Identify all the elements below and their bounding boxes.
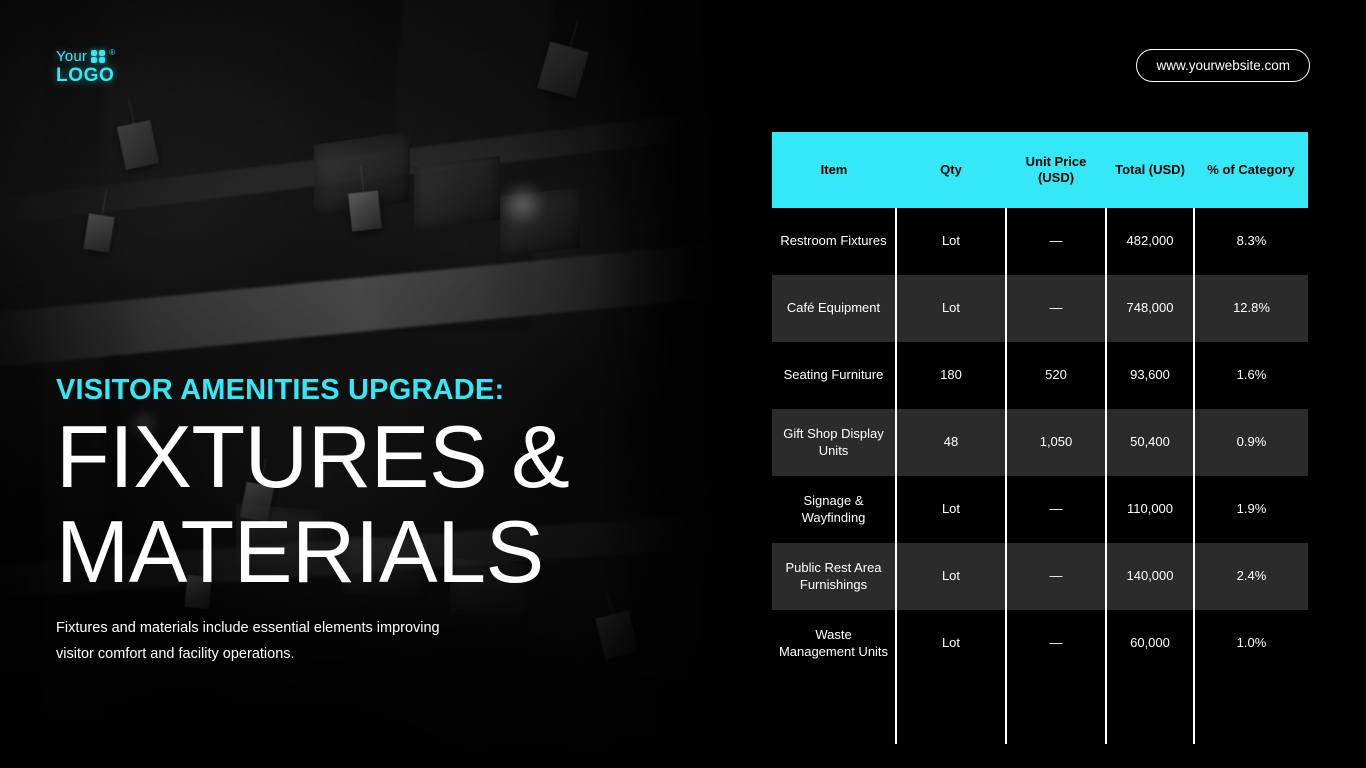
divider-tail-cell — [896, 677, 1006, 744]
cell-item: Café Equipment — [772, 275, 896, 342]
cell-total: 140,000 — [1106, 543, 1194, 610]
cell-unit-price: 1,050 — [1006, 409, 1106, 476]
divider-tail-cell — [1106, 677, 1194, 744]
divider-tail-cell — [1006, 677, 1106, 744]
cell-unit-price: — — [1006, 476, 1106, 543]
cell-percent: 0.9% — [1194, 409, 1308, 476]
cell-percent: 1.9% — [1194, 476, 1308, 543]
table-row: Café EquipmentLot—748,00012.8% — [772, 275, 1308, 342]
column-header-unit-price: Unit Price (USD) — [1006, 132, 1106, 208]
table-row: Waste Management UnitsLot—60,0001.0% — [772, 610, 1308, 677]
cell-qty: Lot — [896, 275, 1006, 342]
table-divider-tail — [772, 677, 1308, 744]
cell-total: 93,600 — [1106, 342, 1194, 409]
cell-qty: Lot — [896, 208, 1006, 275]
presentation-slide: Your ® LOGO www.yourwebsite.com VISITOR … — [0, 0, 1366, 768]
cell-percent: 8.3% — [1194, 208, 1308, 275]
logo-top-row: Your ® — [56, 49, 115, 64]
divider-tail-cell — [1194, 677, 1308, 744]
slide-title-line-1: FIXTURES & — [56, 415, 656, 499]
cell-unit-price: — — [1006, 208, 1106, 275]
cell-qty: Lot — [896, 476, 1006, 543]
divider-tail-cell — [772, 677, 896, 744]
cell-percent: 2.4% — [1194, 543, 1308, 610]
cell-qty: 48 — [896, 409, 1006, 476]
cell-total: 50,400 — [1106, 409, 1194, 476]
cell-percent: 1.0% — [1194, 610, 1308, 677]
cell-unit-price: — — [1006, 275, 1106, 342]
cost-breakdown-table-wrapper: Item Qty Unit Price (USD) Total (USD) % … — [772, 132, 1308, 744]
cell-item: Public Rest Area Furnishings — [772, 543, 896, 610]
cell-item: Gift Shop Display Units — [772, 409, 896, 476]
table-row: Seating Furniture18052093,6001.6% — [772, 342, 1308, 409]
cell-total: 748,000 — [1106, 275, 1194, 342]
cell-item: Seating Furniture — [772, 342, 896, 409]
column-header-item: Item — [772, 132, 896, 208]
slide-title-line-2: MATERIALS — [56, 510, 656, 594]
brand-logo[interactable]: Your ® LOGO — [56, 49, 115, 85]
table-row: Public Rest Area FurnishingsLot—140,0002… — [772, 543, 1308, 610]
cell-item: Signage & Wayfinding — [772, 476, 896, 543]
cell-item: Waste Management Units — [772, 610, 896, 677]
cell-unit-price: — — [1006, 543, 1106, 610]
cell-percent: 1.6% — [1194, 342, 1308, 409]
table-header-row: Item Qty Unit Price (USD) Total (USD) % … — [772, 132, 1308, 208]
cell-total: 482,000 — [1106, 208, 1194, 275]
cell-total: 60,000 — [1106, 610, 1194, 677]
slide-copy-block: VISITOR AMENITIES UPGRADE: FIXTURES & MA… — [56, 375, 656, 667]
table-row: Gift Shop Display Units481,05050,4000.9% — [772, 409, 1308, 476]
cell-item: Restroom Fixtures — [772, 208, 896, 275]
cell-unit-price: — — [1006, 610, 1106, 677]
registered-trademark-icon: ® — [109, 49, 115, 57]
table-row: Restroom FixturesLot—482,0008.3% — [772, 208, 1308, 275]
cell-unit-price: 520 — [1006, 342, 1106, 409]
table-body: Restroom FixturesLot—482,0008.3%Café Equ… — [772, 208, 1308, 744]
cell-qty: Lot — [896, 610, 1006, 677]
four-squares-icon — [91, 50, 105, 63]
website-url-button[interactable]: www.yourwebsite.com — [1136, 49, 1310, 82]
cell-total: 110,000 — [1106, 476, 1194, 543]
table-header: Item Qty Unit Price (USD) Total (USD) % … — [772, 132, 1308, 208]
table-row: Signage & WayfindingLot—110,0001.9% — [772, 476, 1308, 543]
cost-breakdown-table: Item Qty Unit Price (USD) Total (USD) % … — [772, 132, 1308, 744]
slide-description: Fixtures and materials include essential… — [56, 616, 456, 667]
cell-percent: 12.8% — [1194, 275, 1308, 342]
column-header-qty: Qty — [896, 132, 1006, 208]
logo-your-text: Your — [56, 49, 87, 64]
column-header-percent: % of Category — [1194, 132, 1308, 208]
logo-wordmark: LOGO — [56, 66, 115, 85]
slide-eyebrow: VISITOR AMENITIES UPGRADE: — [56, 375, 656, 405]
cell-qty: Lot — [896, 543, 1006, 610]
cell-qty: 180 — [896, 342, 1006, 409]
column-header-total: Total (USD) — [1106, 132, 1194, 208]
